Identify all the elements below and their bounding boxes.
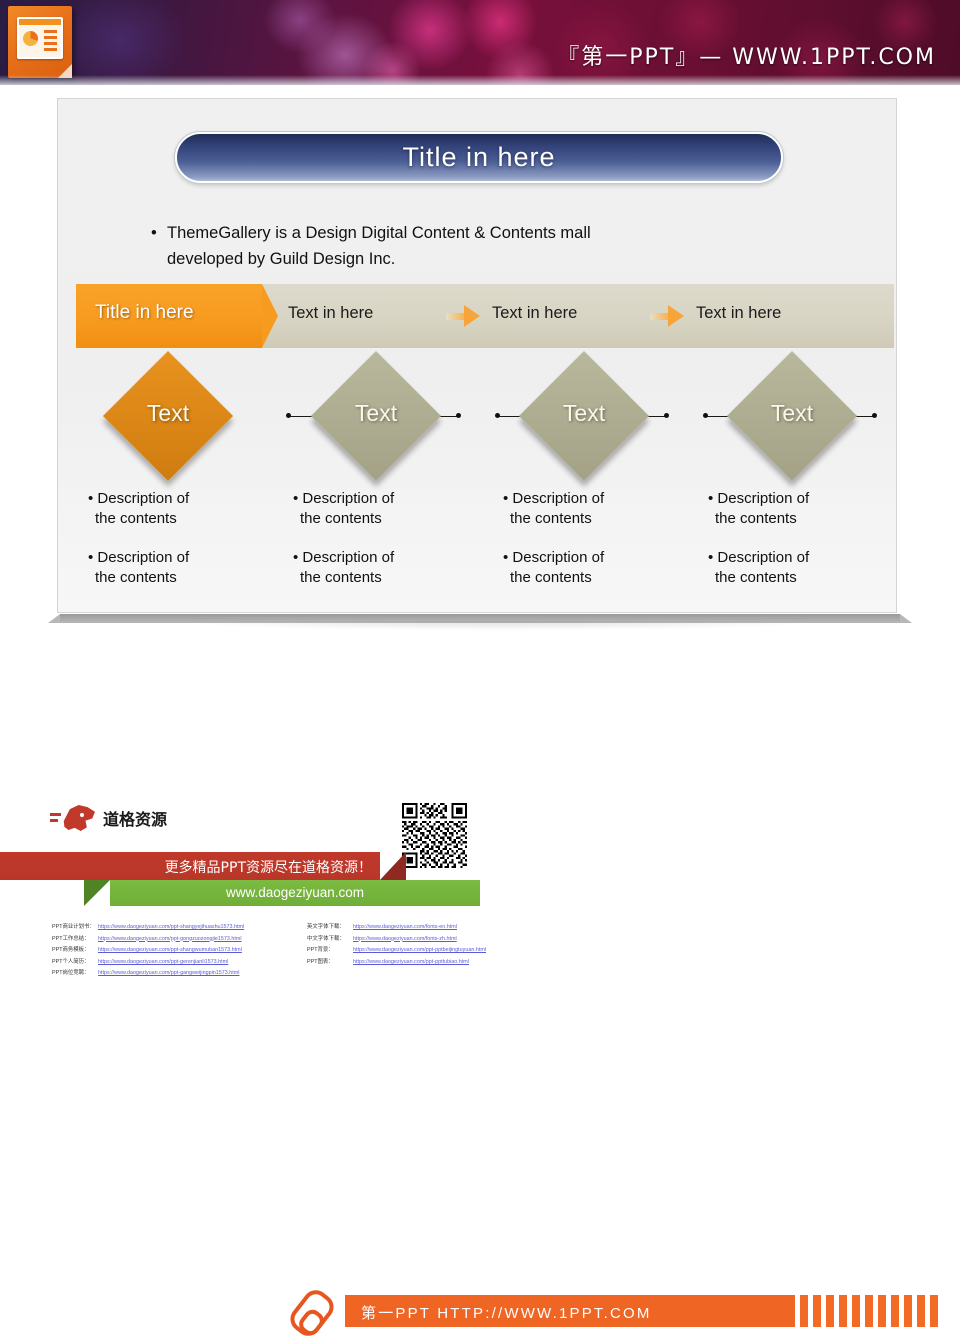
link-label: 中文字体下载： <box>307 934 353 942</box>
description-lead: • Description of <box>88 548 278 568</box>
description-item: • Description of the contents <box>708 548 898 589</box>
link-row[interactable]: PPT背景： https://www.daogeziyuan.com/ppt-p… <box>307 945 522 953</box>
paperclip-icon <box>292 1290 328 1332</box>
description-lead: • Description of <box>708 548 898 568</box>
mid-promo-banner: 第一PPT HTTP://WWW.1PPT.COM <box>0 630 960 740</box>
description-lead: • Description of <box>503 548 693 568</box>
nav-item-active[interactable]: Title in here <box>76 284 262 348</box>
footer-area: 道格资源 <box>0 740 960 1080</box>
link-label: PPT背景： <box>307 945 353 953</box>
diamond-chain: Text Text Text Text <box>58 354 898 479</box>
slide-area: Title in here •ThemeGallery is a Design … <box>0 85 960 630</box>
brand-name: 道格资源 <box>103 806 167 830</box>
connector-dot <box>664 413 669 418</box>
link-row[interactable]: PPT商务模板： https://www.daogeziyuan.com/ppt… <box>52 945 267 953</box>
link-row[interactable]: 中文字体下载： https://www.daogeziyuan.com/font… <box>307 934 522 942</box>
link-url[interactable]: https://www.daogeziyuan.com/fonts-en.htm… <box>353 924 457 930</box>
diamond-node-3[interactable]: Text <box>519 354 649 479</box>
diamond-shape <box>519 351 649 481</box>
link-url[interactable]: https://www.daogeziyuan.com/ppt-gongzuoz… <box>98 936 242 942</box>
description-cont: the contents <box>510 568 693 588</box>
footer-links-right: 英文字体下载： https://www.daogeziyuan.com/font… <box>307 922 522 968</box>
powerpoint-file-icon <box>8 6 72 78</box>
diamond-shape <box>311 351 441 481</box>
connector-dot <box>703 413 708 418</box>
header-title: 『第一PPT』— WWW.1PPT.COM <box>557 39 936 71</box>
connector-dot <box>456 413 461 418</box>
link-label: PPT商业计划书： <box>52 922 98 930</box>
description-lead: • Description of <box>503 489 693 509</box>
green-url-banner[interactable]: www.daogeziyuan.com <box>110 880 480 906</box>
description-item: • Description of the contents <box>88 548 278 589</box>
link-label: PPT工作总结： <box>52 934 98 942</box>
link-url[interactable]: https://www.daogeziyuan.com/ppt-shangyej… <box>98 924 244 930</box>
description-column-3: • Description of the contents • Descript… <box>503 489 693 606</box>
description-cont: the contents <box>715 509 898 529</box>
red-promo-text: 更多精品PPT资源尽在道格资源！ <box>165 857 372 877</box>
link-label: 英文字体下载： <box>307 922 353 930</box>
description-cont: the contents <box>300 509 483 529</box>
slide-canvas: Title in here •ThemeGallery is a Design … <box>57 98 897 613</box>
intro-line-1: ThemeGallery is a Design Digital Content… <box>167 224 591 242</box>
link-row[interactable]: PPT个人简历： https://www.daogeziyuan.com/ppt… <box>52 957 267 965</box>
description-item: • Description of the contents <box>293 548 483 589</box>
description-cont: the contents <box>510 509 693 529</box>
description-item: • Description of the contents <box>503 548 693 589</box>
intro-paragraph: •ThemeGallery is a Design Digital Conten… <box>151 221 831 272</box>
description-column-4: • Description of the contents • Descript… <box>708 489 898 606</box>
description-lead: • Description of <box>708 489 898 509</box>
list-lines-icon <box>44 30 57 54</box>
description-lead: • Description of <box>293 489 483 509</box>
link-url[interactable]: https://www.daogeziyuan.com/ppt-pptbeiji… <box>353 947 486 953</box>
description-cont: the contents <box>300 568 483 588</box>
link-url[interactable]: https://www.daogeziyuan.com/ppt-gerenjia… <box>98 959 228 965</box>
description-column-1: • Description of the contents • Descript… <box>88 489 278 606</box>
qr-code <box>402 803 467 868</box>
diamond-node-2[interactable]: Text <box>311 354 441 479</box>
diamond-shape <box>103 351 233 481</box>
link-url[interactable]: https://www.daogeziyuan.com/ppt-shangwum… <box>98 947 242 953</box>
diamond-node-1[interactable]: Text <box>103 354 233 479</box>
site-header-banner: 『第一PPT』— WWW.1PPT.COM <box>0 0 960 85</box>
powerpoint-icon-inner <box>17 17 63 59</box>
description-lead: • Description of <box>293 548 483 568</box>
tick-decoration <box>800 1295 960 1327</box>
link-row[interactable]: 英文字体下载： https://www.daogeziyuan.com/font… <box>307 922 522 930</box>
promo-url-text: 第一PPT HTTP://WWW.1PPT.COM <box>361 1302 652 1323</box>
intro-bullet: • <box>151 221 167 247</box>
nav-item-2[interactable]: Text in here <box>492 304 577 323</box>
nav-item-3[interactable]: Text in here <box>696 304 781 323</box>
link-url[interactable]: https://www.daogeziyuan.com/ppt-ppttubia… <box>353 959 469 965</box>
link-label: PPT个人简历： <box>52 957 98 965</box>
description-lead: • Description of <box>88 489 278 509</box>
header-fade <box>0 75 960 85</box>
description-item: • Description of the contents <box>708 489 898 530</box>
link-row[interactable]: PPT岗位竞聘： https://www.daogeziyuan.com/ppt… <box>52 968 267 976</box>
description-column-2: • Description of the contents • Descript… <box>293 489 483 606</box>
page-title: Title in here <box>402 142 555 173</box>
description-cont: the contents <box>715 568 898 588</box>
link-url[interactable]: https://www.daogeziyuan.com/ppt-gangweij… <box>98 970 239 976</box>
connector-dot <box>872 413 877 418</box>
arrow-right-icon <box>650 308 684 324</box>
link-label: PPT图表： <box>307 957 353 965</box>
arrow-right-icon <box>446 308 480 324</box>
description-item: • Description of the contents <box>293 489 483 530</box>
link-row[interactable]: PPT图表： https://www.daogeziyuan.com/ppt-p… <box>307 957 522 965</box>
link-url[interactable]: https://www.daogeziyuan.com/fonts-zh.htm… <box>353 936 457 942</box>
connector-dot <box>495 413 500 418</box>
diamond-shape <box>727 351 857 481</box>
diamond-node-4[interactable]: Text <box>727 354 857 479</box>
description-cont: the contents <box>95 568 278 588</box>
intro-line-2: developed by Guild Design Inc. <box>167 247 831 273</box>
slide-title-pill: Title in here <box>175 132 783 183</box>
red-promo-banner: 更多精品PPT资源尽在道格资源！ <box>0 852 380 880</box>
link-label: PPT商务模板： <box>52 945 98 953</box>
pie-chart-icon <box>23 31 38 46</box>
green-url-text: www.daogeziyuan.com <box>110 885 480 900</box>
footer-links-left: PPT商业计划书： https://www.daogeziyuan.com/pp… <box>52 922 267 980</box>
nav-active-label: Title in here <box>95 302 194 324</box>
navigation-bar: Title in here Text in here Text in here … <box>76 284 894 348</box>
connector-dot <box>286 413 291 418</box>
description-item: • Description of the contents <box>88 489 278 530</box>
link-row[interactable]: PPT工作总结： https://www.daogeziyuan.com/ppt… <box>52 934 267 942</box>
horse-logo-icon <box>50 805 96 831</box>
promo-url-bar[interactable]: 第一PPT HTTP://WWW.1PPT.COM <box>345 1295 795 1327</box>
link-label: PPT岗位竞聘： <box>52 968 98 976</box>
description-cont: the contents <box>95 509 278 529</box>
description-item: • Description of the contents <box>503 489 693 530</box>
link-row[interactable]: PPT商业计划书： https://www.daogeziyuan.com/pp… <box>52 922 267 930</box>
nav-item-1[interactable]: Text in here <box>288 304 373 323</box>
